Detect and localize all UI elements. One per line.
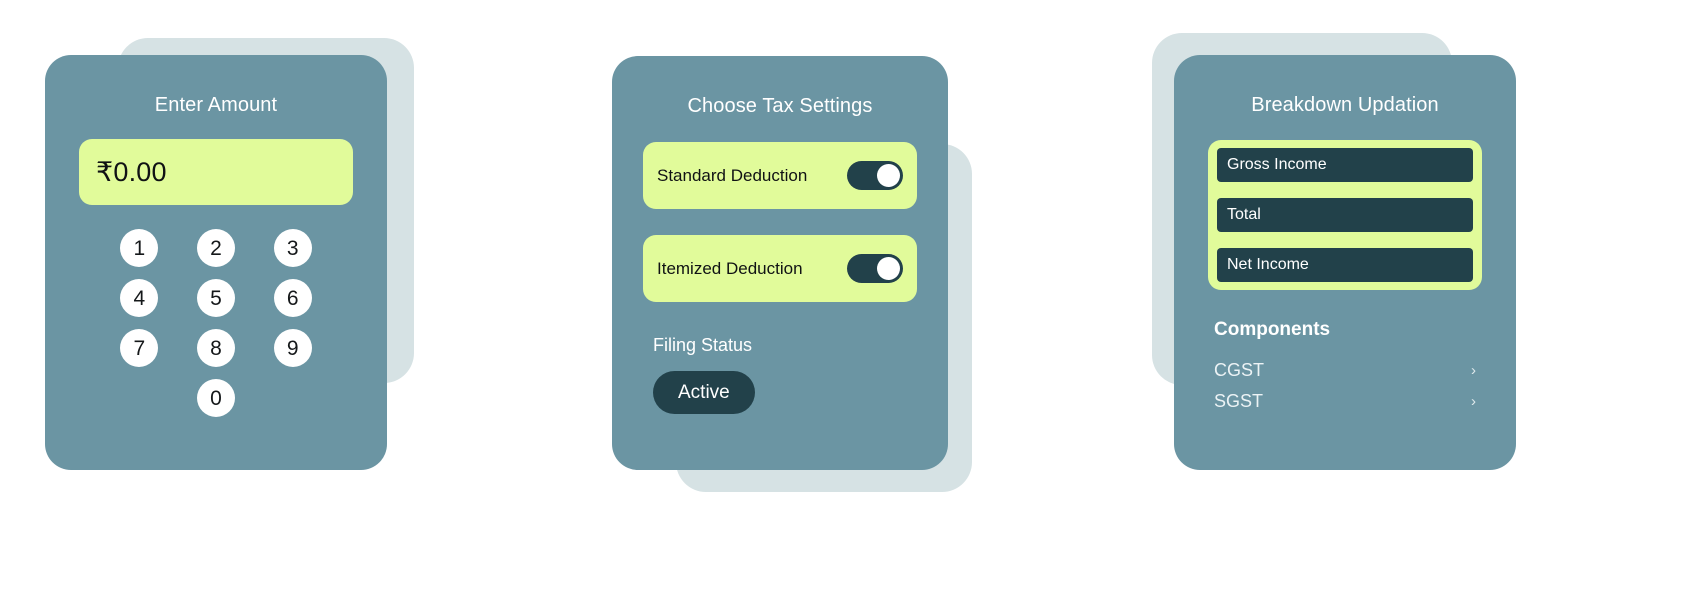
chevron-right-icon: › [1471, 363, 1476, 378]
standard-deduction-label: Standard Deduction [657, 166, 807, 186]
component-label-cgst: CGST [1214, 360, 1264, 381]
breakdown-row-gross-income[interactable]: Gross Income [1217, 148, 1473, 182]
filing-status-block: Filing Status Active [653, 335, 948, 414]
toggle-knob-icon [877, 257, 900, 280]
breakdown-updation-card: Breakdown Updation Gross Income Total Ne… [1174, 55, 1516, 470]
standard-deduction-row[interactable]: Standard Deduction [643, 142, 917, 209]
keypad-key-5[interactable]: 5 [197, 279, 235, 317]
breakdown-row-net-income[interactable]: Net Income [1217, 248, 1473, 282]
component-item-cgst[interactable]: CGST › [1214, 355, 1476, 386]
keypad-key-8[interactable]: 8 [197, 329, 235, 367]
keypad-key-6[interactable]: 6 [274, 279, 312, 317]
enter-amount-card: Enter Amount ₹0.00 1 2 3 4 5 6 7 8 9 0 [45, 55, 387, 470]
breakdown-rows: Gross Income Total Net Income [1208, 140, 1482, 290]
components-heading: Components [1214, 319, 1516, 341]
keypad-key-2[interactable]: 2 [197, 229, 235, 267]
keypad-key-7[interactable]: 7 [120, 329, 158, 367]
amount-value: ₹0.00 [96, 157, 167, 188]
chevron-right-icon: › [1471, 394, 1476, 409]
keypad-key-4[interactable]: 4 [120, 279, 158, 317]
itemized-deduction-label: Itemized Deduction [657, 259, 803, 279]
standard-deduction-toggle[interactable] [847, 161, 903, 190]
breakdown-row-total[interactable]: Total [1217, 198, 1473, 232]
keypad-key-1[interactable]: 1 [120, 229, 158, 267]
keypad-key-9[interactable]: 9 [274, 329, 312, 367]
itemized-deduction-toggle[interactable] [847, 254, 903, 283]
filing-status-badge[interactable]: Active [653, 371, 755, 414]
keypad-key-3[interactable]: 3 [274, 229, 312, 267]
amount-input[interactable]: ₹0.00 [79, 139, 353, 205]
tax-settings-title: Choose Tax Settings [612, 95, 948, 118]
itemized-deduction-row[interactable]: Itemized Deduction [643, 235, 917, 302]
screen-root: Enter Amount ₹0.00 1 2 3 4 5 6 7 8 9 0 C… [0, 0, 1696, 601]
component-item-sgst[interactable]: SGST › [1214, 386, 1476, 417]
toggle-knob-icon [877, 164, 900, 187]
enter-amount-title: Enter Amount [45, 94, 387, 117]
breakdown-title: Breakdown Updation [1174, 94, 1516, 117]
keypad-key-0[interactable]: 0 [197, 379, 235, 417]
component-label-sgst: SGST [1214, 391, 1263, 412]
filing-status-label: Filing Status [653, 335, 948, 356]
tax-settings-card: Choose Tax Settings Standard Deduction I… [612, 56, 948, 470]
numeric-keypad: 1 2 3 4 5 6 7 8 9 0 [101, 229, 331, 417]
